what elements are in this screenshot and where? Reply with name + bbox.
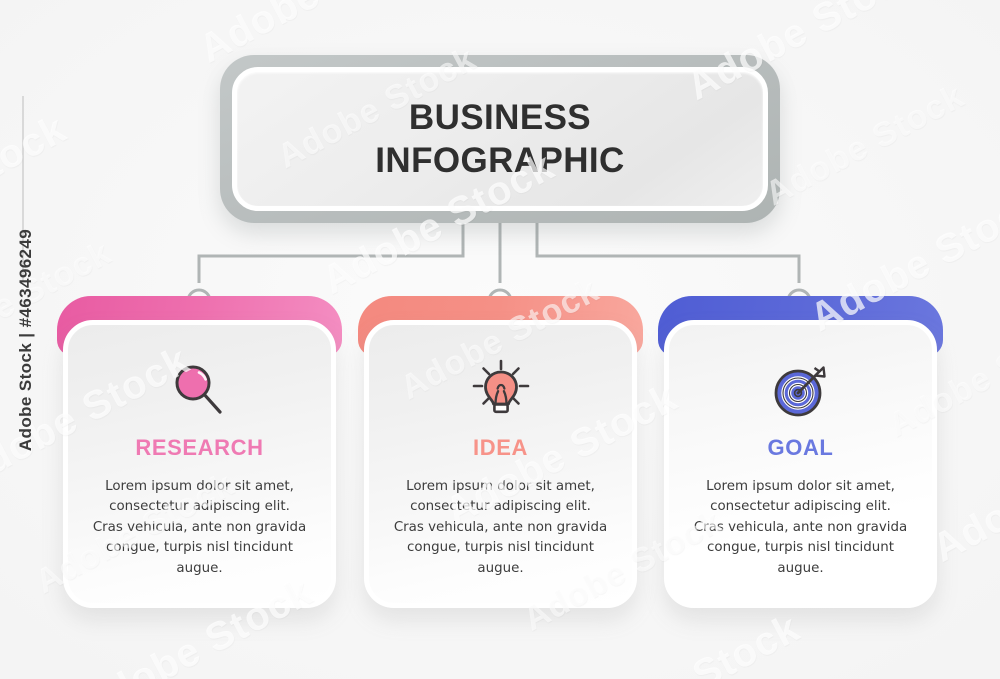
card-description-idea: Lorem ipsum dolor sit amet, consectetur … [393,477,608,579]
magnifier-icon [168,355,232,427]
credit-label: Adobe Stock | #463496249 [16,228,36,450]
card-description-research: Lorem ipsum dolor sit amet, consectetur … [92,477,307,579]
card-body-goal: GOAL Lorem ipsum dolor sit amet, consect… [664,320,937,608]
header-frame: BUSINESS INFOGRAPHIC [220,55,780,223]
page-title-line2: INFOGRAPHIC [375,139,624,182]
card-body-idea: IDEA Lorem ipsum dolor sit amet, consect… [364,320,637,608]
card-body-research: RESEARCH Lorem ipsum dolor sit amet, con… [63,320,336,608]
watermark-text: Adobe Stock [561,606,808,679]
card-research[interactable]: RESEARCH Lorem ipsum dolor sit amet, con… [57,296,342,608]
credit-strip: Adobe Stock | #463496249 [6,0,46,679]
card-idea[interactable]: IDEA Lorem ipsum dolor sit amet, consect… [358,296,643,608]
card-title-research: RESEARCH [135,435,263,461]
lightbulb-icon [468,355,534,427]
card-title-idea: IDEA [473,435,528,461]
infographic-canvas: Adobe StockAdobe StockAdobe Stock Adobe … [0,0,1000,679]
page-title-line1: BUSINESS [409,98,591,137]
watermark-text: Adobe Stock [759,77,971,214]
card-goal[interactable]: GOAL Lorem ipsum dolor sit amet, consect… [658,296,943,608]
header-panel: BUSINESS INFOGRAPHIC [232,67,768,211]
card-title-goal: GOAL [768,435,834,461]
target-icon [769,355,833,427]
page-title: BUSINESS INFOGRAPHIC [375,96,624,183]
connector-left-branch [199,223,463,283]
card-description-goal: Lorem ipsum dolor sit amet, consectetur … [693,477,908,579]
connector-right-branch [537,223,799,283]
